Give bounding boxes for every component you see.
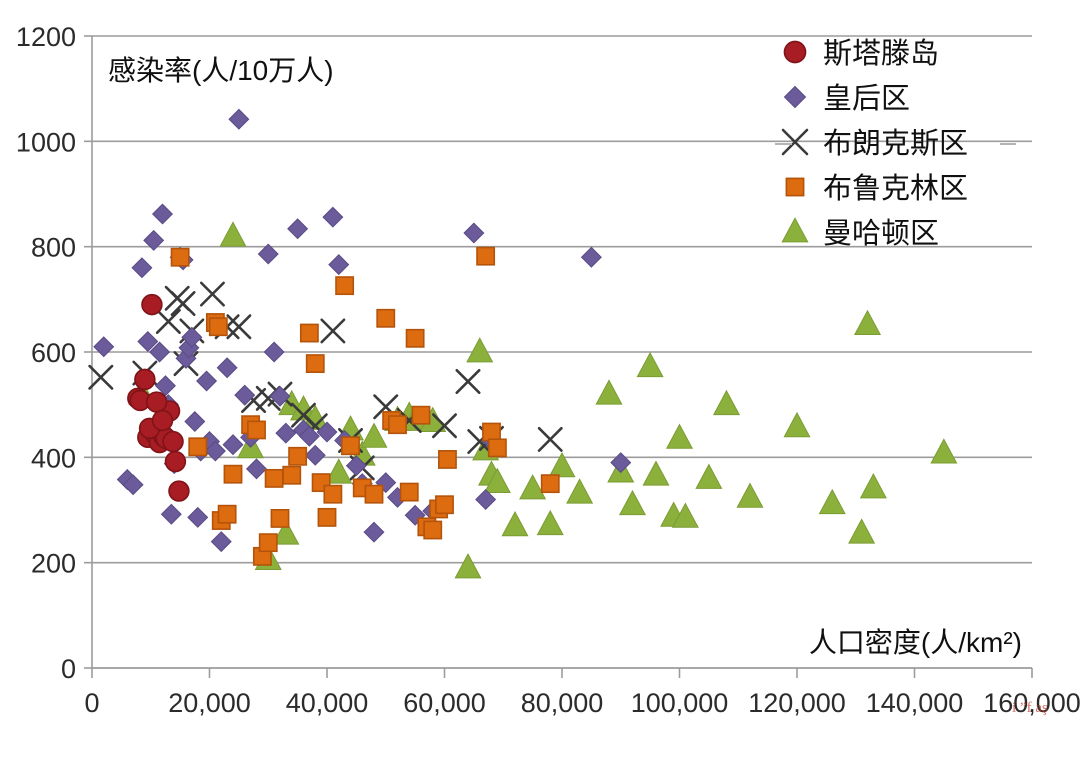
x-tick-label-40000: 40,000 — [286, 688, 369, 718]
series-brooklyn-point-24 — [377, 310, 394, 327]
series-brooklyn-point-18 — [318, 509, 335, 526]
series-bronx-point-0 — [90, 366, 112, 388]
series-staten-island-point-4 — [142, 295, 162, 315]
series-queens-point-39 — [323, 207, 343, 227]
series-manhattan-point-34 — [696, 465, 721, 489]
y-tick-label-1200: 1200 — [16, 22, 76, 52]
series-manhattan-point-38 — [820, 490, 845, 514]
series-manhattan-point-16 — [455, 554, 480, 578]
y-tick-label-600: 600 — [31, 338, 76, 368]
series-queens-point-49 — [464, 223, 484, 243]
series-staten-island-point-11 — [169, 481, 189, 501]
series-bronx-point-2 — [157, 310, 179, 332]
series-brooklyn-point-35 — [477, 248, 494, 265]
x-tick-label-60000: 60,000 — [403, 688, 486, 718]
series-queens-point-25 — [223, 435, 243, 455]
watermark-text: i ”f aş — [1012, 700, 1048, 716]
series-bronx-point-21 — [457, 370, 479, 392]
series-brooklyn-point-5 — [219, 506, 236, 523]
series-brooklyn-point-11 — [266, 470, 283, 487]
series-bronx-point-24 — [539, 428, 561, 450]
series-manhattan-point-41 — [861, 474, 886, 498]
series-queens-point-20 — [197, 371, 217, 391]
series-brooklyn-point-31 — [424, 521, 441, 538]
series-brooklyn-point-3 — [210, 318, 227, 335]
y-axis-title: 感染率(人/10万人) — [108, 55, 334, 86]
x-axis-title: 人口密度(人/km²) — [809, 627, 1022, 658]
series-bronx-point-15 — [322, 320, 344, 342]
series-manhattan-point-26 — [596, 380, 621, 404]
x-tick-label-0: 0 — [84, 688, 99, 718]
legend-marker-brooklyn-point-0 — [786, 178, 803, 195]
series-queens-point-44 — [364, 522, 384, 542]
series-queens-point-31 — [264, 342, 284, 362]
series-brooklyn-point-38 — [542, 475, 559, 492]
series-staten-island-point-14 — [163, 432, 183, 452]
chart-canvas: 020040060080010001200020,00040,00060,000… — [0, 0, 1080, 757]
series-staten-island-point-15 — [153, 411, 173, 431]
series-staten-island-point-10 — [166, 452, 186, 472]
series-queens-point-40 — [329, 255, 349, 275]
series-brooklyn-point-14 — [289, 448, 306, 465]
series-brooklyn-point-37 — [489, 439, 506, 456]
legend-label-staten-island: 斯塔滕岛 — [823, 37, 939, 70]
series-queens-point-24 — [217, 358, 237, 378]
series-manhattan-point-35 — [714, 391, 739, 415]
x-tick-label-20000: 20,000 — [168, 688, 251, 718]
series-staten-island-point-2 — [135, 369, 155, 389]
y-tick-label-200: 200 — [31, 549, 76, 579]
series-staten-island-point-12 — [147, 392, 167, 412]
series-queens-point-17 — [185, 412, 205, 432]
series-queens-point-23 — [211, 532, 231, 552]
series-queens-point-0 — [94, 337, 114, 357]
series-queens-point-34 — [288, 219, 308, 239]
series-manhattan-point-23 — [538, 511, 563, 535]
series-queens-point-3 — [132, 258, 152, 278]
y-tick-label-0: 0 — [61, 654, 76, 684]
series-brooklyn-point-16 — [307, 355, 324, 372]
series-brooklyn-point-28 — [407, 330, 424, 347]
series-brooklyn-point-6 — [224, 466, 241, 483]
series-bronx-point-9 — [228, 316, 250, 338]
series-brooklyn-point-15 — [301, 324, 318, 341]
series-manhattan-point-21 — [502, 512, 527, 536]
series-brooklyn-point-23 — [365, 486, 382, 503]
series-brooklyn-point-20 — [336, 277, 353, 294]
series-queens-point-52 — [582, 247, 602, 267]
series-brooklyn-point-1 — [189, 438, 206, 455]
series-brooklyn-point-8 — [248, 421, 265, 438]
series-manhattan-point-32 — [667, 425, 692, 449]
series-brooklyn-point-12 — [271, 510, 288, 527]
x-tick-label-120000: 120,000 — [748, 688, 846, 718]
legend-label-queens: 皇后区 — [823, 82, 910, 115]
y-tick-label-400: 400 — [31, 443, 76, 473]
series-queens-point-10 — [162, 504, 182, 524]
series-manhattan-point-17 — [467, 338, 492, 362]
series-brooklyn-point-34 — [439, 451, 456, 468]
series-bronx-point-7 — [201, 283, 223, 305]
series-queens-point-53 — [611, 453, 631, 473]
legend-label-brooklyn: 布鲁克林区 — [823, 172, 968, 205]
series-queens-point-29 — [247, 459, 267, 479]
series-brooklyn-point-10 — [260, 534, 277, 551]
series-queens-point-18 — [188, 508, 208, 528]
legend-label-bronx: 布朗克斯区 — [823, 127, 968, 160]
legend-marker-manhattan-point-0 — [782, 218, 807, 242]
series-brooklyn-point-27 — [401, 483, 418, 500]
x-tick-label-100000: 100,000 — [631, 688, 729, 718]
series-manhattan-point-40 — [855, 311, 880, 335]
series-manhattan-point-28 — [620, 491, 645, 515]
series-manhattan-point-1 — [220, 222, 245, 246]
x-tick-label-140000: 140,000 — [866, 688, 964, 718]
y-tick-label-1000: 1000 — [16, 127, 76, 157]
series-manhattan-point-29 — [637, 353, 662, 377]
series-manhattan-point-30 — [643, 461, 668, 485]
scatter-chart: 020040060080010001200020,00040,00060,000… — [0, 0, 1080, 757]
series-queens-point-7 — [153, 204, 173, 224]
legend-marker-queens-point-0 — [785, 87, 806, 108]
series-brooklyn-point-21 — [342, 437, 359, 454]
series-queens-point-37 — [305, 445, 325, 465]
series-brooklyn-point-0 — [172, 249, 189, 266]
legend-marker-staten-island-point-0 — [784, 41, 805, 62]
series-manhattan-point-42 — [931, 439, 956, 463]
series-brooklyn-point-33 — [436, 496, 453, 513]
series-brooklyn-point-36 — [483, 423, 500, 440]
series-brooklyn-point-26 — [389, 416, 406, 433]
series-queens-point-26 — [229, 109, 249, 129]
series-bronx-point-4 — [172, 292, 194, 314]
series-brooklyn-point-13 — [283, 467, 300, 484]
legend-label-manhattan: 曼哈顿区 — [823, 217, 939, 250]
y-tick-label-800: 800 — [31, 233, 76, 263]
series-manhattan-point-25 — [567, 479, 592, 503]
series-manhattan-point-39 — [849, 519, 874, 543]
series-manhattan-point-36 — [737, 484, 762, 508]
x-tick-label-80000: 80,000 — [521, 688, 604, 718]
series-brooklyn-point-19 — [324, 486, 341, 503]
series-brooklyn-point-29 — [412, 407, 429, 424]
series-manhattan-point-37 — [784, 413, 809, 437]
